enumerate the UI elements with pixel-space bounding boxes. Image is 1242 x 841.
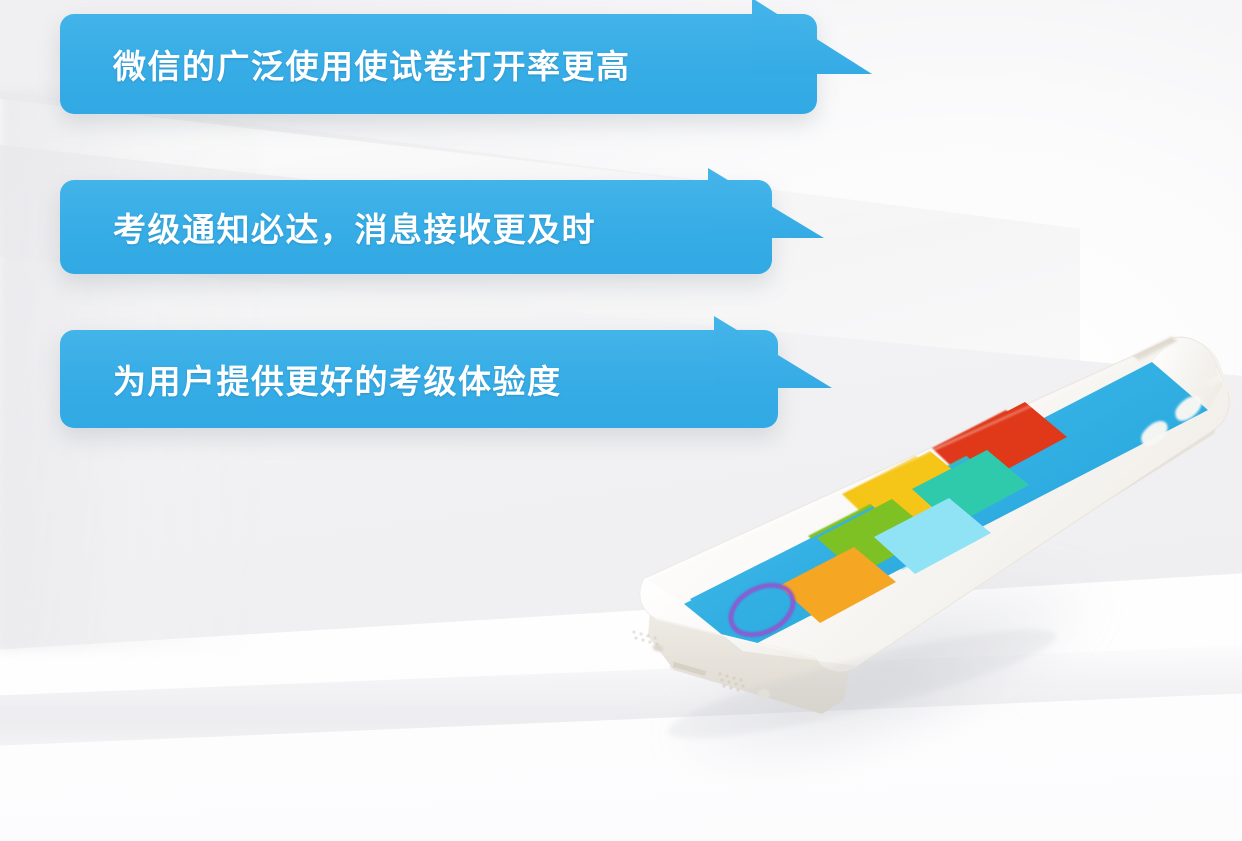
speech-bubble-1-tail [752, 0, 872, 74]
smartphone-illustration [612, 318, 1242, 738]
speech-bubble-1-label: 微信的广泛使用使试卷打开率更高 [113, 40, 631, 88]
speech-bubble-2-label: 考级通知必达，消息接收更及时 [113, 203, 596, 251]
speech-bubble-2[interactable]: 考级通知必达，消息接收更及时 [60, 180, 772, 274]
speech-bubble-2-tail [708, 168, 824, 238]
slide-canvas: 微信的广泛使用使试卷打开率更高 考级通知必达，消息接收更及时 为用户提供更好的考… [0, 0, 1242, 841]
speech-bubble-3-label: 为用户提供更好的考级体验度 [113, 355, 562, 403]
speech-bubble-1[interactable]: 微信的广泛使用使试卷打开率更高 [60, 14, 817, 114]
